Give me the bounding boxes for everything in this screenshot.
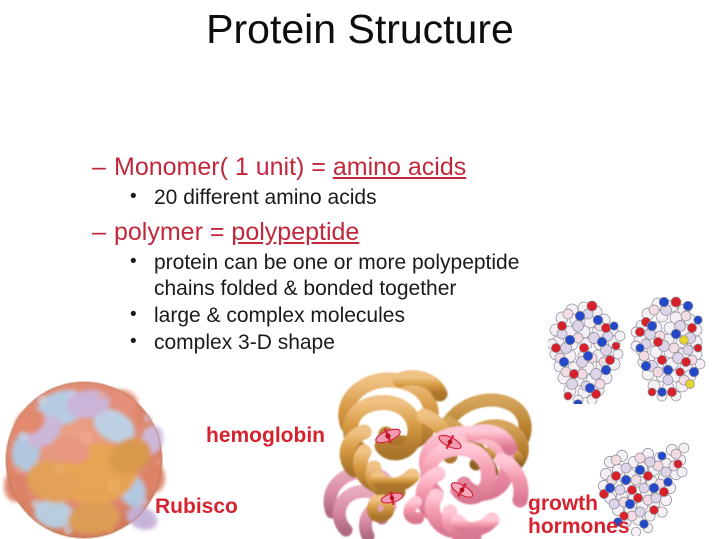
bullet-polymer-keyword: polypeptide [231,218,359,246]
sub-bullet-large-complex: •large & complex molecules [92,303,562,329]
bullet-list: –Monomer( 1 unit) = amino acids •20 diff… [92,152,562,357]
label-growth-hormones: growth hormones [528,492,630,538]
dot-marker: • [130,302,137,328]
sub-bullet-label: complex 3-D shape [154,331,335,354]
dash-marker: – [92,217,106,248]
label-hemoglobin: hemoglobin [206,424,325,447]
sub-bullet-polypeptide-chains: •protein can be one or more polypeptide … [92,250,584,302]
sub-bullet-3d-shape: •complex 3-D shape [92,330,562,356]
bullet-polymer-text: polymer = [114,218,231,246]
slide-canvas: Protein Structure [0,0,720,539]
label-growth-line1: growth [528,492,630,515]
page-title: Protein Structure [0,6,720,53]
rubisco-molecule-image [2,378,167,539]
sub-bullet-amino-acid-count: •20 different amino acids [92,185,562,211]
dot-marker: • [130,329,137,355]
label-rubisco: Rubisco [155,495,238,518]
bullet-monomer: –Monomer( 1 unit) = amino acids [92,152,562,183]
bullet-monomer-keyword: amino acids [333,153,466,181]
growth-hormone-molecule-image-2 [628,296,706,402]
bullet-polymer: –polymer = polypeptide [92,217,562,248]
hemoglobin-molecule-image [316,360,538,539]
sub-bullet-label: large & complex molecules [154,304,405,327]
bullet-monomer-text: Monomer( 1 unit) = [114,153,333,181]
dash-marker: – [92,152,106,183]
sub-bullet-label: 20 different amino acids [154,186,377,209]
dot-marker: • [130,249,137,275]
label-growth-line2: hormones [528,515,630,538]
dot-marker: • [130,184,137,210]
sub-bullet-label: protein can be one or more polypeptide c… [154,251,519,300]
